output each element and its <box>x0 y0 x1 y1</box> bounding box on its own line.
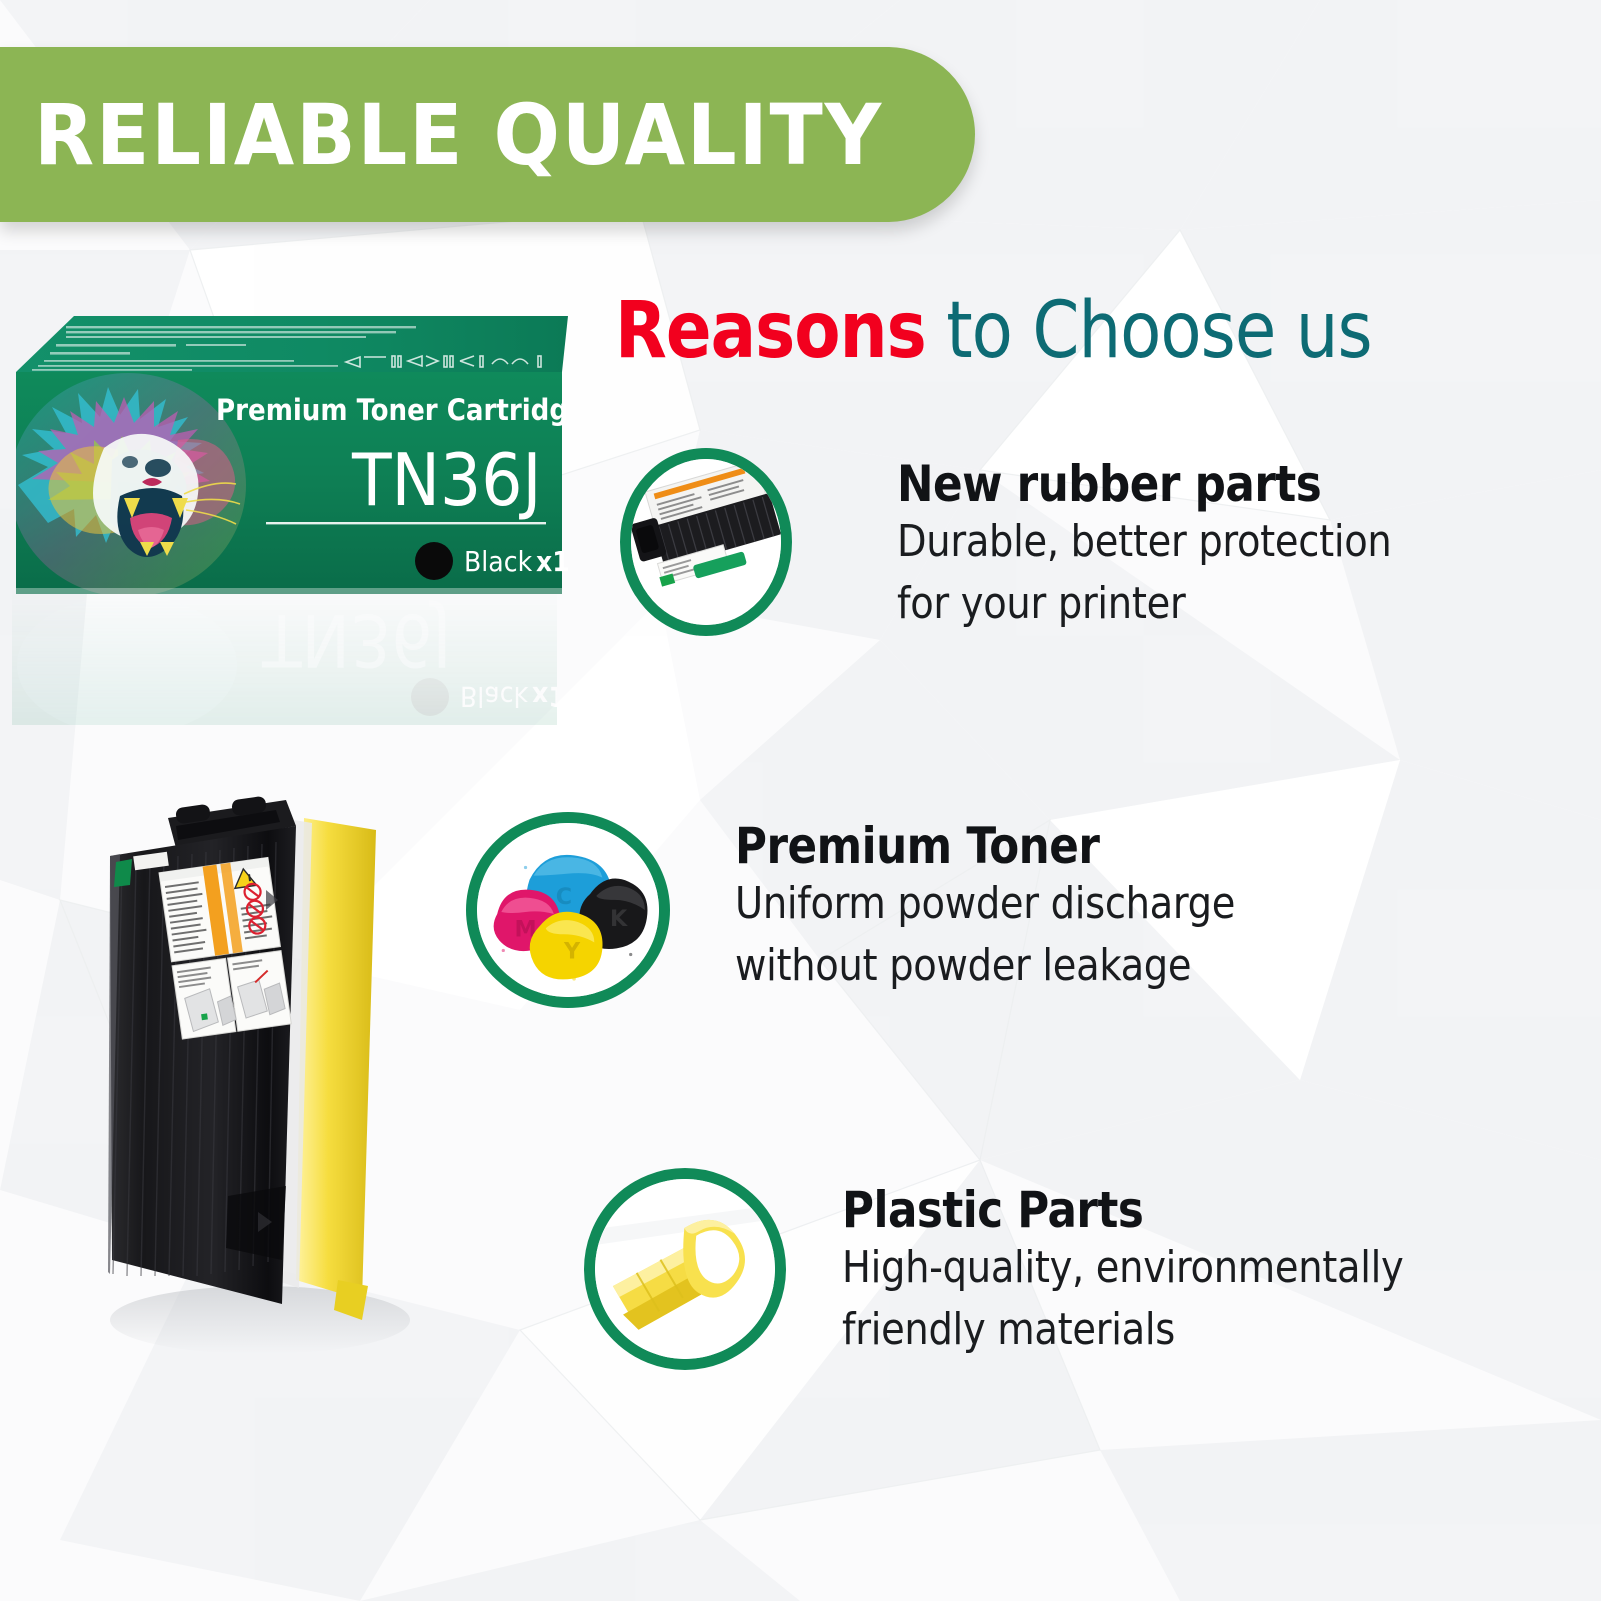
feature-text: Premium Toner Uniform powder discharge w… <box>735 820 1251 997</box>
page-title-rest: to Choose us <box>926 286 1372 376</box>
feature-desc-line2: friendly materials <box>842 1299 1403 1361</box>
feature-desc-line2: without powder leakage <box>735 935 1235 997</box>
box-model: TN36J <box>351 438 542 522</box>
feature-new-rubber-parts: New rubber parts Durable, better protect… <box>620 448 1407 636</box>
feature-desc-line1: Durable, better protection <box>897 511 1391 573</box>
box-quantity: x1 <box>536 545 568 578</box>
feature-text: New rubber parts Durable, better protect… <box>897 458 1407 635</box>
page-title: Reasons to Choose us <box>615 286 1372 376</box>
svg-text:Y: Y <box>563 939 581 965</box>
page-title-highlight: Reasons <box>615 286 926 376</box>
feature-premium-toner: C K M Y Premium Toner Uniform powder dis… <box>466 812 1251 1008</box>
feature-text: Plastic Parts High-quality, environmenta… <box>842 1184 1421 1361</box>
cmyk-toner-powder-icon: C K M Y <box>466 812 670 1008</box>
svg-text:C: C <box>556 884 572 910</box>
toner-cartridge-photo <box>80 760 440 1360</box>
yellow-plastic-part-icon <box>584 1168 786 1370</box>
reliable-quality-banner: RELIABLE QUALITY <box>0 47 975 222</box>
feature-title: Plastic Parts <box>842 1184 1403 1237</box>
feature-plastic-parts: Plastic Parts High-quality, environmenta… <box>584 1168 1421 1370</box>
product-box-image: Premium Toner Cartridge TN36J Black x1 <box>8 300 568 720</box>
box-color-name: Black <box>464 545 533 578</box>
svg-text:K: K <box>610 906 628 932</box>
feature-title: Premium Toner <box>735 820 1235 873</box>
feature-desc-line1: High-quality, environmentally <box>842 1237 1403 1299</box>
feature-title: New rubber parts <box>897 458 1391 511</box>
feature-desc-line2: for your printer <box>897 573 1391 635</box>
feature-desc-line1: Uniform powder discharge <box>735 873 1235 935</box>
box-brand-line: Premium Toner Cartridge <box>216 393 568 427</box>
banner-label: RELIABLE QUALITY <box>34 86 883 184</box>
rubber-parts-icon <box>620 448 792 636</box>
box-color-swatch <box>415 542 453 580</box>
